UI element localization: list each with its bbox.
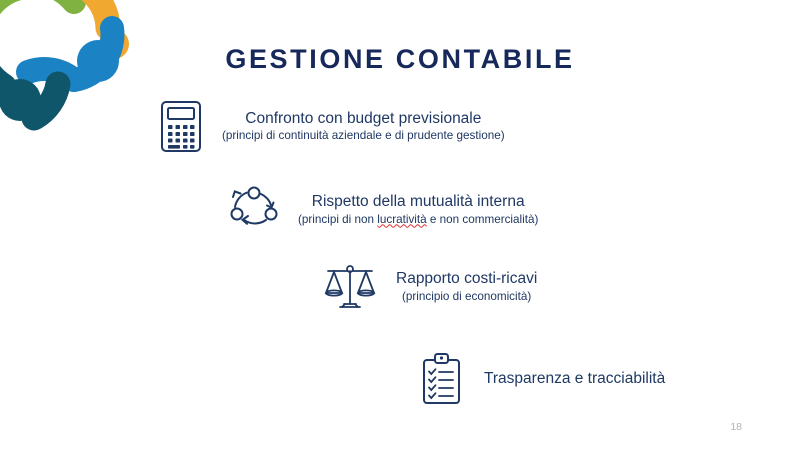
slide-canvas: GESTIONE CONTABILE (0, 0, 800, 451)
list-item-subline: (principi di non lucratività e non comme… (298, 213, 538, 227)
list-item-headline: Rispetto della mutualità interna (298, 193, 538, 211)
list-item: Rapporto costi-ricavi (principio di econ… (322, 262, 537, 312)
list-item-subline: (principi di continuità aziendale e di p… (222, 129, 505, 143)
list-item: Trasparenza e tracciabilità (418, 352, 665, 408)
calculator-icon (158, 99, 204, 154)
page-number: 18 (730, 421, 742, 433)
list-item-text: Rispetto della mutualità interna (princi… (280, 193, 538, 226)
list-item-headline: Trasparenza e tracciabilità (484, 370, 665, 388)
clipboard-checklist-icon (418, 352, 466, 408)
cycle-arrows-icon (228, 184, 280, 236)
subline-suffix: e non commercialità) (427, 213, 539, 226)
list-item-subline: (principio di economicità) (396, 290, 537, 304)
list-item-headline: Confronto con budget previsionale (222, 110, 505, 128)
subline-prefix: (principi di non (298, 213, 377, 226)
list-item-text: Confronto con budget previsionale (princ… (204, 110, 505, 143)
list-item: Confronto con budget previsionale (princ… (158, 99, 505, 154)
list-item-text: Trasparenza e tracciabilità (466, 370, 665, 389)
list-item-headline: Rapporto costi-ricavi (396, 270, 537, 288)
page-title: GESTIONE CONTABILE (0, 44, 800, 75)
list-item: Rispetto della mutualità interna (princi… (228, 184, 538, 236)
balance-scale-icon (322, 262, 378, 312)
misspelled-word: lucratività (377, 213, 426, 226)
list-item-text: Rapporto costi-ricavi (principio di econ… (378, 270, 537, 303)
